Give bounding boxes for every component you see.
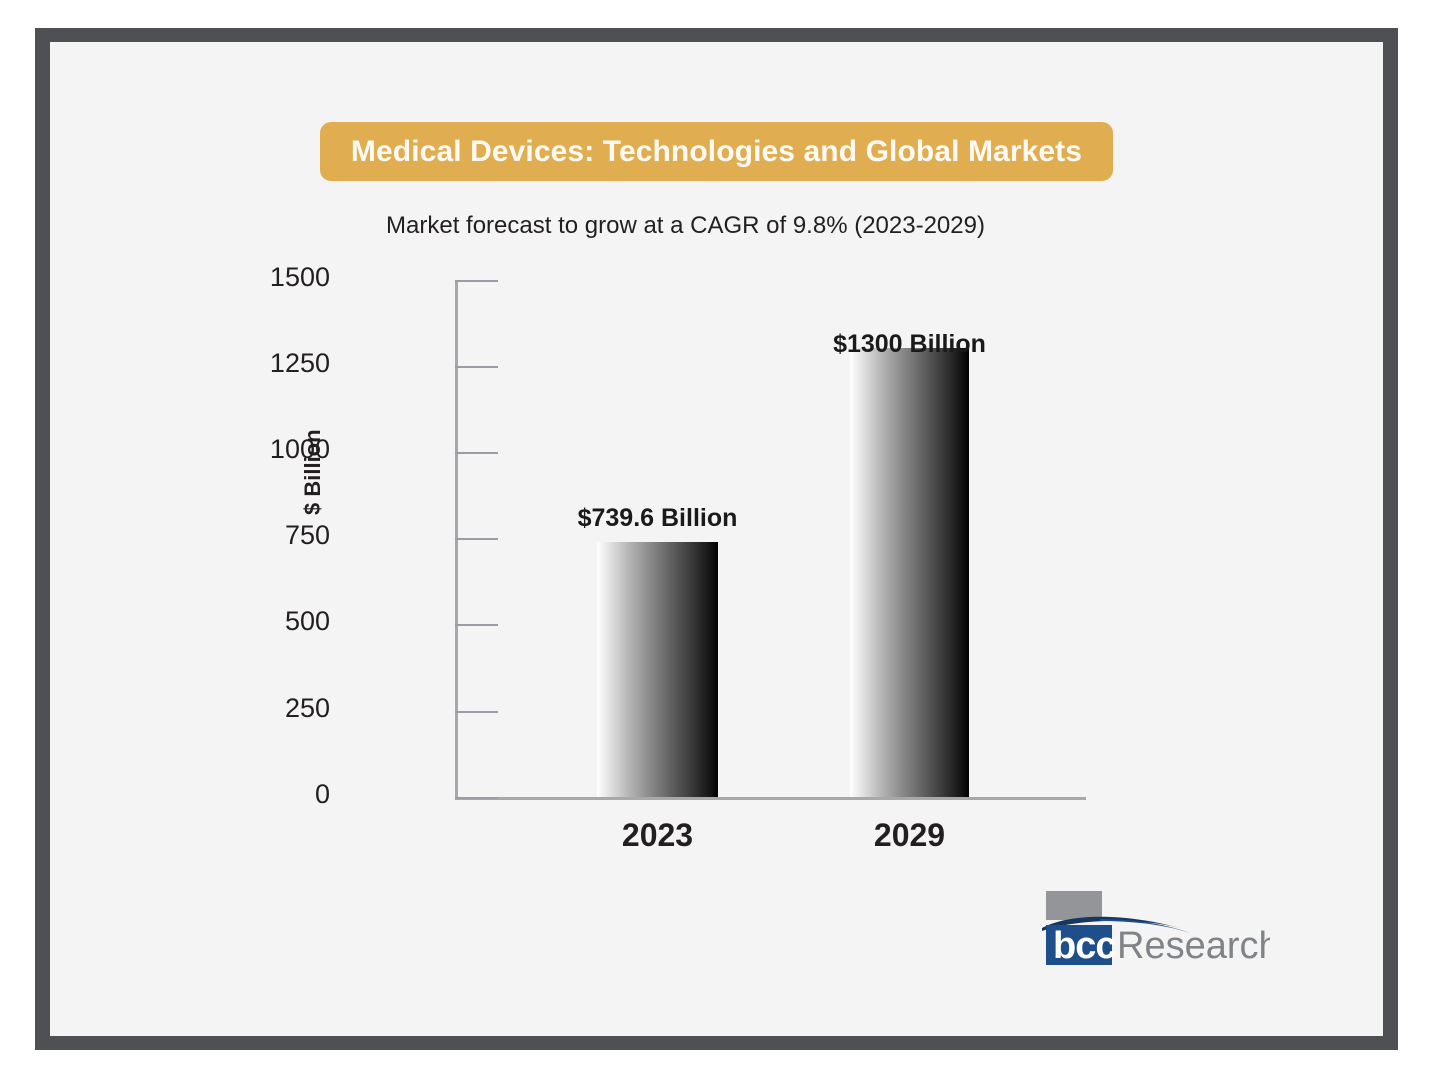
y-tick-1000: [455, 452, 498, 454]
y-tick-label-0: 0: [180, 779, 330, 810]
y-tick-label-1250: 1250: [180, 348, 330, 379]
y-tick-1500: [455, 280, 498, 282]
y-tick-1250: [455, 366, 498, 368]
y-tick-label-250: 250: [180, 693, 330, 724]
y-tick-250: [455, 711, 498, 713]
bcc-research-logo: bcc Research: [1040, 887, 1270, 969]
y-tick-500: [455, 624, 498, 626]
y-tick-label-750: 750: [180, 520, 330, 551]
bar-label-2029: $1300 Billion: [759, 330, 1060, 359]
x-axis-line: [455, 797, 1086, 800]
bar-2023[interactable]: [597, 542, 718, 797]
logo-brand-bold: bcc: [1053, 925, 1116, 967]
logo-gray-square: [1046, 891, 1102, 920]
slide-canvas: Medical Devices: Technologies and Global…: [0, 0, 1430, 1073]
y-tick-0: [455, 797, 498, 799]
y-axis-line: [455, 280, 458, 800]
slide-panel: Medical Devices: Technologies and Global…: [50, 42, 1383, 1036]
bar-label-2023: $739.6 Billion: [507, 504, 808, 533]
x-category-2023: 2023: [557, 817, 758, 854]
slide-frame-border: Medical Devices: Technologies and Global…: [35, 28, 1398, 1050]
bar-2029[interactable]: [850, 348, 969, 797]
y-tick-label-1000: 1000: [180, 434, 330, 465]
y-axis-title: $ Billion: [300, 475, 326, 515]
y-tick-750: [455, 538, 498, 540]
logo-brand-light: Research: [1117, 925, 1270, 967]
x-category-2029: 2029: [809, 817, 1010, 854]
y-tick-label-500: 500: [180, 606, 330, 637]
y-tick-label-1500: 1500: [180, 262, 330, 293]
